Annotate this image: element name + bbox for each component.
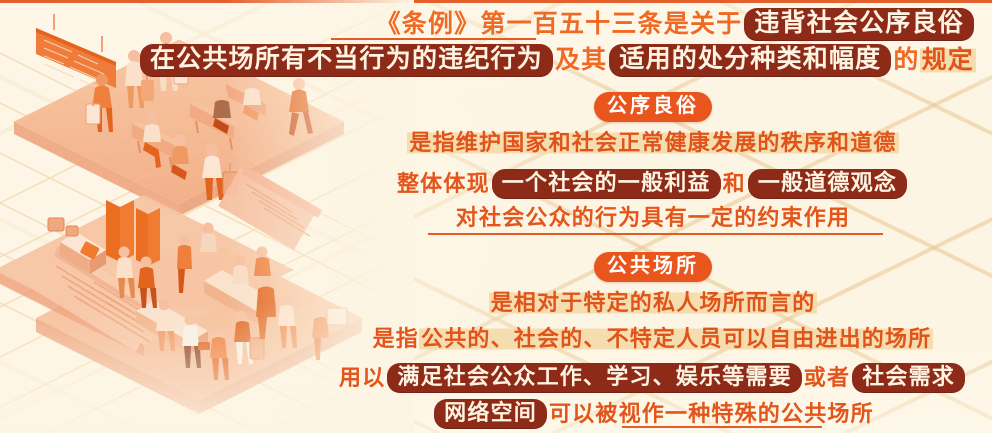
section-2-line-2-text: 公共的、社会的、不特定人员可以自由进出的场所 xyxy=(419,327,933,351)
heading-line-1: 《条例》 第一百五十三条是关于 违背社会公序良俗 xyxy=(376,8,976,41)
badge-public-order-morals: 公序良俗 xyxy=(594,92,712,122)
section-2-line-4: 网络空间 可以被视作 一种特殊的公共场所 xyxy=(330,399,976,429)
section-1-line-3: 对社会公众的行为具有一定的约束作用 xyxy=(330,207,976,229)
text-content-column: 《条例》 第一百五十三条是关于 违背社会公序良俗 在公共场所有不当行为的违纪行为… xyxy=(330,0,992,433)
section-1-line-2: 整体体现 一个社会的一般利益 和 一般道德观念 xyxy=(330,169,976,199)
section-1-line-1-text: 是指维护国家和社会正常健康发展的秩序和道德 xyxy=(407,131,898,155)
chip-social-demand: 社会需求 xyxy=(852,363,965,393)
chip-meet-public-needs: 满足社会公众工作、学习、娱乐等需要 xyxy=(387,363,801,393)
section-2-line-4-underline xyxy=(622,426,822,428)
chip-cyberspace: 网络空间 xyxy=(434,399,547,429)
heading-line-2-provision: 规定 xyxy=(920,47,976,74)
section-1-line-3-underline xyxy=(428,233,883,235)
section-2-line-3-lead: 用以 xyxy=(339,367,385,389)
section-2-line-2-lead: 是指 xyxy=(373,328,419,350)
section-2-line-1: 是相对于特定的私人场所而言的 xyxy=(330,291,976,315)
section-2-line-3: 用以 满足社会公众工作、学习、娱乐等需要 或者 社会需求 xyxy=(330,363,976,393)
heading-line-1-text: 第一百五十三条是关于 xyxy=(480,12,742,37)
section-1-badge-row: 公序良俗 xyxy=(330,92,976,122)
chip-improper-conduct: 在公共场所有不当行为的违纪行为 xyxy=(140,44,553,77)
infographic-canvas: 《条例》 第一百五十三条是关于 违背社会公序良俗 在公共场所有不当行为的违纪行为… xyxy=(0,0,992,433)
section-2-line-4-tail: 一种特殊的公共场所 xyxy=(665,403,874,425)
section-2-line-3-or: 或者 xyxy=(804,367,850,389)
heading-line-2: 在公共场所有不当行为的违纪行为 及其 适用的处分种类和幅度 的 规定 xyxy=(138,44,976,77)
heading-line-2-connector: 及其 xyxy=(555,48,607,73)
section-1-line-3-text: 对社会公众的行为具有一定的约束作用 xyxy=(456,207,850,229)
heading-line-2-particle: 的 xyxy=(893,48,919,73)
section-2-badge-row: 公共场所 xyxy=(330,252,976,282)
chip-punishment-types: 适用的处分种类和幅度 xyxy=(609,44,891,77)
badge-public-place: 公共场所 xyxy=(594,252,712,282)
regulation-title: 《条例》 xyxy=(376,12,481,37)
chip-violate-public-order: 违背社会公序良俗 xyxy=(744,8,974,41)
chip-general-interest-of-society: 一个社会的一般利益 xyxy=(492,169,721,199)
section-1-line-2-conjunction: 和 xyxy=(723,173,746,195)
section-2-line-4-mid: 可以被视作 xyxy=(549,403,665,425)
section-2-line-2: 是指 公共的、社会的、不特定人员可以自由进出的场所 xyxy=(330,327,976,351)
chip-general-moral-concepts: 一般道德观念 xyxy=(748,169,907,199)
section-1-line-1: 是指维护国家和社会正常健康发展的秩序和道德 xyxy=(330,131,976,155)
section-1-line-2-lead: 整体体现 xyxy=(397,173,490,195)
section-2-line-1-text: 是相对于特定的私人场所而言的 xyxy=(489,291,818,315)
